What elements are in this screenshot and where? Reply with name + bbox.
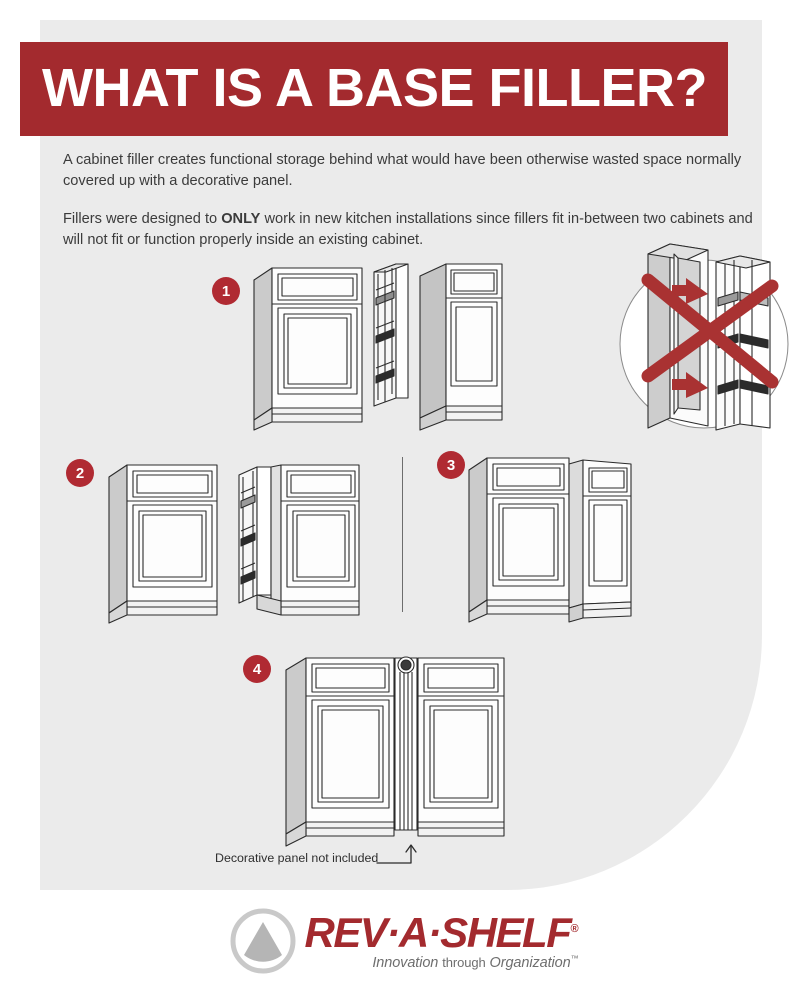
rev-a-shelf-mark-icon	[230, 908, 296, 974]
brand-logo: REV·A·SHELF® Innovation through Organiza…	[0, 898, 808, 984]
page-title: WHAT IS A BASE FILLER?	[42, 61, 707, 115]
caption-arrow-icon	[375, 842, 425, 868]
infographic-poster: WHAT IS A BASE FILLER? A cabinet filler …	[0, 0, 808, 990]
tagline-word-3: Organization	[490, 955, 571, 971]
paragraph-1-text: A cabinet filler creates functional stor…	[63, 152, 741, 189]
section-divider	[402, 457, 403, 612]
illustration-not-allowed	[612, 236, 797, 441]
registered-mark: ®	[570, 923, 578, 935]
illustration-step-1	[250, 258, 510, 433]
brand-name: REV·A·SHELF®	[305, 913, 579, 953]
brand-name-text: REV·A·SHELF	[305, 909, 571, 956]
trademark-mark: ™	[571, 954, 579, 963]
illustration-step-4	[282, 650, 512, 850]
step-badge-4: 4	[243, 655, 271, 683]
tagline-word-1: Innovation	[372, 955, 438, 971]
tagline-word-2: through	[442, 955, 485, 970]
decorative-panel-caption: Decorative panel not included	[215, 851, 378, 865]
step-badge-2: 2	[66, 459, 94, 487]
title-banner: WHAT IS A BASE FILLER?	[20, 42, 728, 136]
brand-tagline: Innovation through Organization™	[305, 954, 579, 971]
illustration-step-2	[105, 455, 365, 625]
step-badge-1: 1	[212, 277, 240, 305]
illustration-step-3	[465, 450, 635, 625]
paragraph-1: A cabinet filler creates functional stor…	[63, 150, 753, 192]
step-badge-3: 3	[437, 451, 465, 479]
paragraph-2-text-before: Fillers were designed to	[63, 211, 221, 227]
paragraph-2-emphasis: ONLY	[221, 211, 260, 227]
